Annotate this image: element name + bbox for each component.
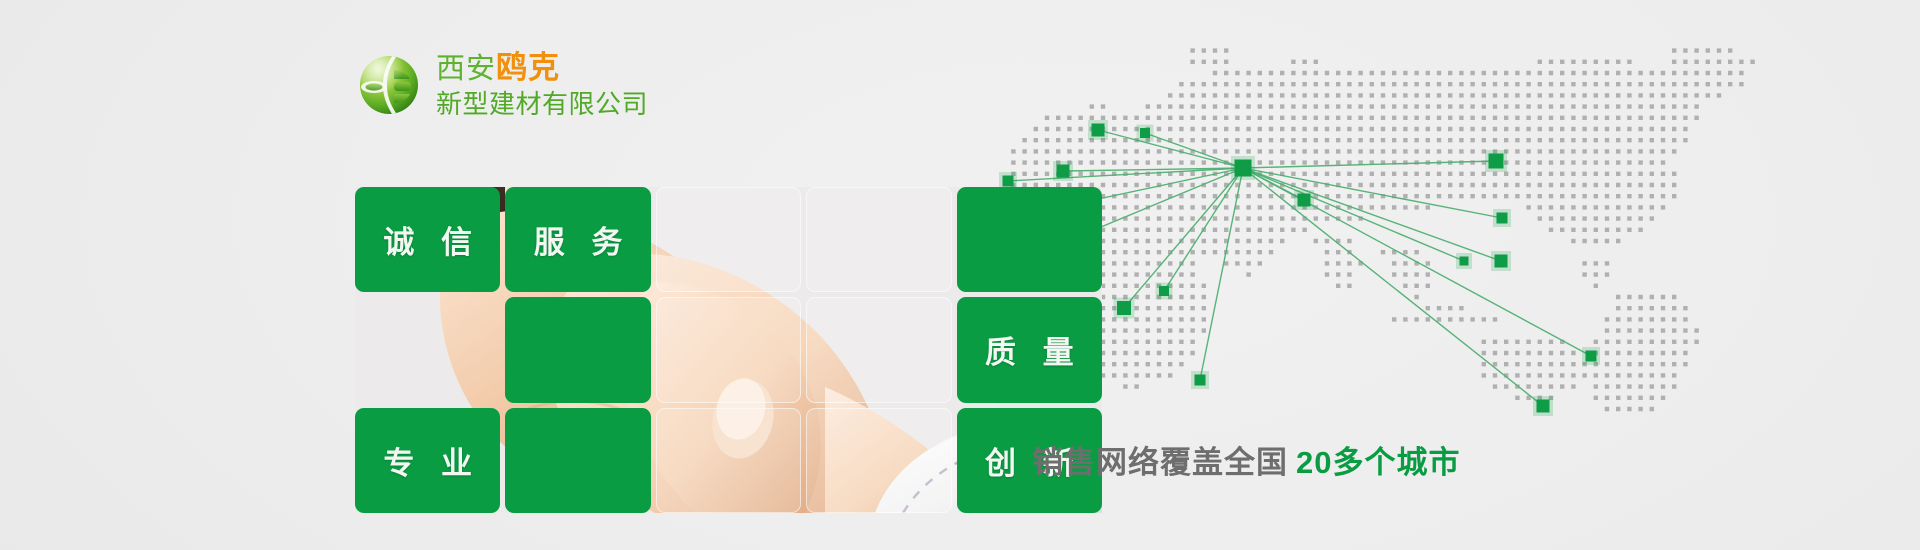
tile-professional[interactable]: 专 业 [355, 408, 500, 513]
tile-empty-r2c1[interactable] [355, 297, 500, 402]
tile-grid: 诚 信服 务质 量专 业创 新 [355, 187, 1102, 513]
logo-name-line: 西安鸥克 [436, 52, 648, 84]
tile-quality[interactable]: 质 量 [957, 297, 1102, 402]
promotional-banner: 西安鸥克 新型建材有限公司 [0, 0, 1920, 550]
tile-glass-r3c4[interactable] [806, 408, 951, 513]
tile-glass-r1c3[interactable] [656, 187, 801, 292]
globe-leaf-logo-icon [358, 54, 420, 116]
tile-solid-r1c5[interactable] [957, 187, 1102, 292]
logo-wordmark: 西安鸥克 新型建材有限公司 [436, 52, 648, 117]
tile-label: 质 量 [976, 327, 1083, 372]
tile-solid-r2c2[interactable] [505, 297, 650, 402]
tile-label: 专 业 [374, 438, 481, 483]
tile-glass-r2c3[interactable] [656, 297, 801, 402]
tile-service[interactable]: 服 务 [505, 187, 650, 292]
tile-integrity[interactable]: 诚 信 [355, 187, 500, 292]
tile-glass-r2c4[interactable] [806, 297, 951, 402]
sales-network-tagline: 销售网络覆盖全国20多个城市 [1032, 437, 1460, 482]
tile-solid-r3c2[interactable] [505, 408, 650, 513]
logo-brand: 鸥克 [496, 50, 560, 85]
tile-label: 服 务 [525, 217, 632, 262]
map-dot-field [1011, 48, 1755, 411]
tile-glass-r1c4[interactable] [806, 187, 951, 292]
handshake-tile-mosaic: 诚 信服 务质 量专 业创 新 [355, 187, 1102, 513]
tagline-green-text: 20多个城市 [1296, 445, 1460, 480]
tile-label: 诚 信 [374, 217, 481, 262]
tile-glass-r3c3[interactable] [656, 408, 801, 513]
company-logo[interactable]: 西安鸥克 新型建材有限公司 [358, 52, 648, 117]
logo-city: 西安 [436, 53, 496, 85]
logo-subtitle: 新型建材有限公司 [436, 91, 648, 117]
tagline-gray-text: 销售网络覆盖全国 [1032, 445, 1288, 480]
